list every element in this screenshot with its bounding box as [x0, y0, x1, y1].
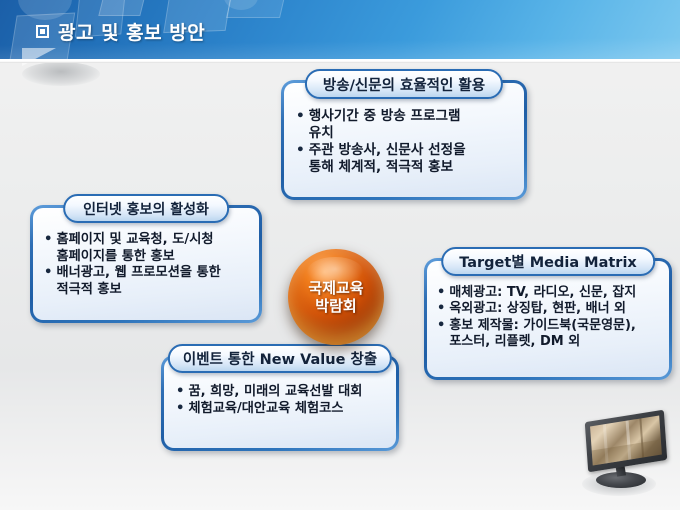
- callout-box-target-inner: Target별 Media Matrix • 매체광고: TV, 라디오, 신문…: [427, 261, 669, 377]
- list-item-text: 꿈, 희망, 미래의 교육선발 대회: [188, 384, 362, 401]
- callout-box-broadcast[interactable]: 방송/신문의 효율적인 활용 • 행사기간 중 방송 프로그램 유치 • 주관 …: [281, 80, 527, 200]
- callout-box-event-title: 이벤트 통한 New Value 창출: [168, 344, 392, 373]
- list-item: • 홍보 제작물: 가이드북(국문영문), 포스터, 리플렛, DM 외: [437, 318, 663, 351]
- list-item: • 행사기간 중 방송 프로그램 유치: [296, 108, 514, 142]
- list-item-text: 홍보 제작물: 가이드북(국문영문), 포스터, 리플렛, DM 외: [449, 318, 636, 351]
- header-divider: [0, 59, 680, 63]
- bullet-icon: •: [176, 384, 184, 401]
- callout-box-broadcast-body: • 행사기간 중 방송 프로그램 유치 • 주관 방송사, 신문사 선정을 통해…: [296, 108, 514, 177]
- list-item-text: 홈페이지 및 교육청, 도/시청 홈페이지를 통한 홍보: [56, 232, 213, 265]
- header-decor-quad-3: [98, 0, 151, 16]
- list-item-text: 배너광고, 웹 프로모션을 통한 적극적 홍보: [56, 265, 220, 298]
- list-item: • 옥외광고: 상징탑, 현판, 배너 외: [437, 301, 663, 317]
- lcd-monitor-icon: [578, 412, 676, 500]
- center-hub-label-line1: 국제교육: [308, 279, 363, 297]
- bullet-icon: •: [437, 285, 445, 301]
- center-hub-sphere[interactable]: 국제교육 박람회: [288, 249, 384, 345]
- square-bullet-icon: [36, 25, 49, 38]
- bullet-icon: •: [44, 232, 52, 249]
- center-hub-label-line2: 박람회: [315, 297, 356, 315]
- list-item-text: 매체광고: TV, 라디오, 신문, 잡지: [449, 285, 636, 301]
- list-item: • 체험교육/대안교육 체험코스: [176, 401, 388, 418]
- callout-box-internet[interactable]: 인터넷 홍보의 활성화 • 홈페이지 및 교육청, 도/시청 홈페이지를 통한 …: [30, 205, 262, 323]
- bullet-icon: •: [44, 265, 52, 282]
- callout-box-broadcast-inner: 방송/신문의 효율적인 활용 • 행사기간 중 방송 프로그램 유치 • 주관 …: [284, 83, 524, 197]
- callout-box-internet-inner: 인터넷 홍보의 활성화 • 홈페이지 및 교육청, 도/시청 홈페이지를 통한 …: [33, 208, 259, 320]
- header-decor-quad-5: [226, 0, 292, 18]
- list-item-text: 행사기간 중 방송 프로그램 유치: [309, 108, 461, 142]
- callout-box-event-body: • 꿈, 희망, 미래의 교육선발 대회 • 체험교육/대안교육 체험코스: [176, 384, 388, 417]
- callout-box-internet-body: • 홈페이지 및 교육청, 도/시청 홈페이지를 통한 홍보 • 배너광고, 웹…: [44, 232, 251, 299]
- bullet-icon: •: [437, 301, 445, 317]
- header-triangle-accent: [22, 48, 56, 66]
- page-title: 광고 및 홍보 방안: [36, 18, 205, 45]
- callout-box-event-inner: 이벤트 통한 New Value 창출 • 꿈, 희망, 미래의 교육선발 대회…: [164, 358, 396, 448]
- page-title-text: 광고 및 홍보 방안: [58, 18, 205, 45]
- monitor-screen-image: [590, 415, 662, 465]
- bullet-icon: •: [437, 318, 445, 334]
- list-item: • 배너광고, 웹 프로모션을 통한 적극적 홍보: [44, 265, 251, 298]
- list-item: • 꿈, 희망, 미래의 교육선발 대회: [176, 384, 388, 401]
- callout-box-target-title: Target별 Media Matrix: [441, 247, 655, 276]
- list-item: • 주관 방송사, 신문사 선정을 통해 체계적, 적극적 홍보: [296, 142, 514, 176]
- list-item: • 홈페이지 및 교육청, 도/시청 홈페이지를 통한 홍보: [44, 232, 251, 265]
- list-item-text: 체험교육/대안교육 체험코스: [188, 401, 343, 418]
- callout-box-target-body: • 매체광고: TV, 라디오, 신문, 잡지 • 옥외광고: 상징탑, 현판,…: [437, 285, 663, 351]
- callout-box-target-media-matrix[interactable]: Target별 Media Matrix • 매체광고: TV, 라디오, 신문…: [424, 258, 672, 380]
- bullet-icon: •: [176, 401, 184, 418]
- monitor-bezel: [585, 410, 668, 473]
- list-item-text: 주관 방송사, 신문사 선정을 통해 체계적, 적극적 홍보: [309, 142, 466, 176]
- list-item-text: 옥외광고: 상징탑, 현판, 배너 외: [449, 301, 626, 317]
- list-item: • 매체광고: TV, 라디오, 신문, 잡지: [437, 285, 663, 301]
- callout-box-internet-title: 인터넷 홍보의 활성화: [63, 194, 229, 223]
- bullet-icon: •: [296, 108, 305, 125]
- callout-box-broadcast-title: 방송/신문의 효율적인 활용: [305, 69, 503, 99]
- callout-box-event[interactable]: 이벤트 통한 New Value 창출 • 꿈, 희망, 미래의 교육선발 대회…: [161, 355, 399, 451]
- bullet-icon: •: [296, 142, 305, 159]
- slide-canvas: 광고 및 홍보 방안 방송/신문의 효율적인 활용 • 행사기간 중 방송 프로…: [0, 0, 680, 510]
